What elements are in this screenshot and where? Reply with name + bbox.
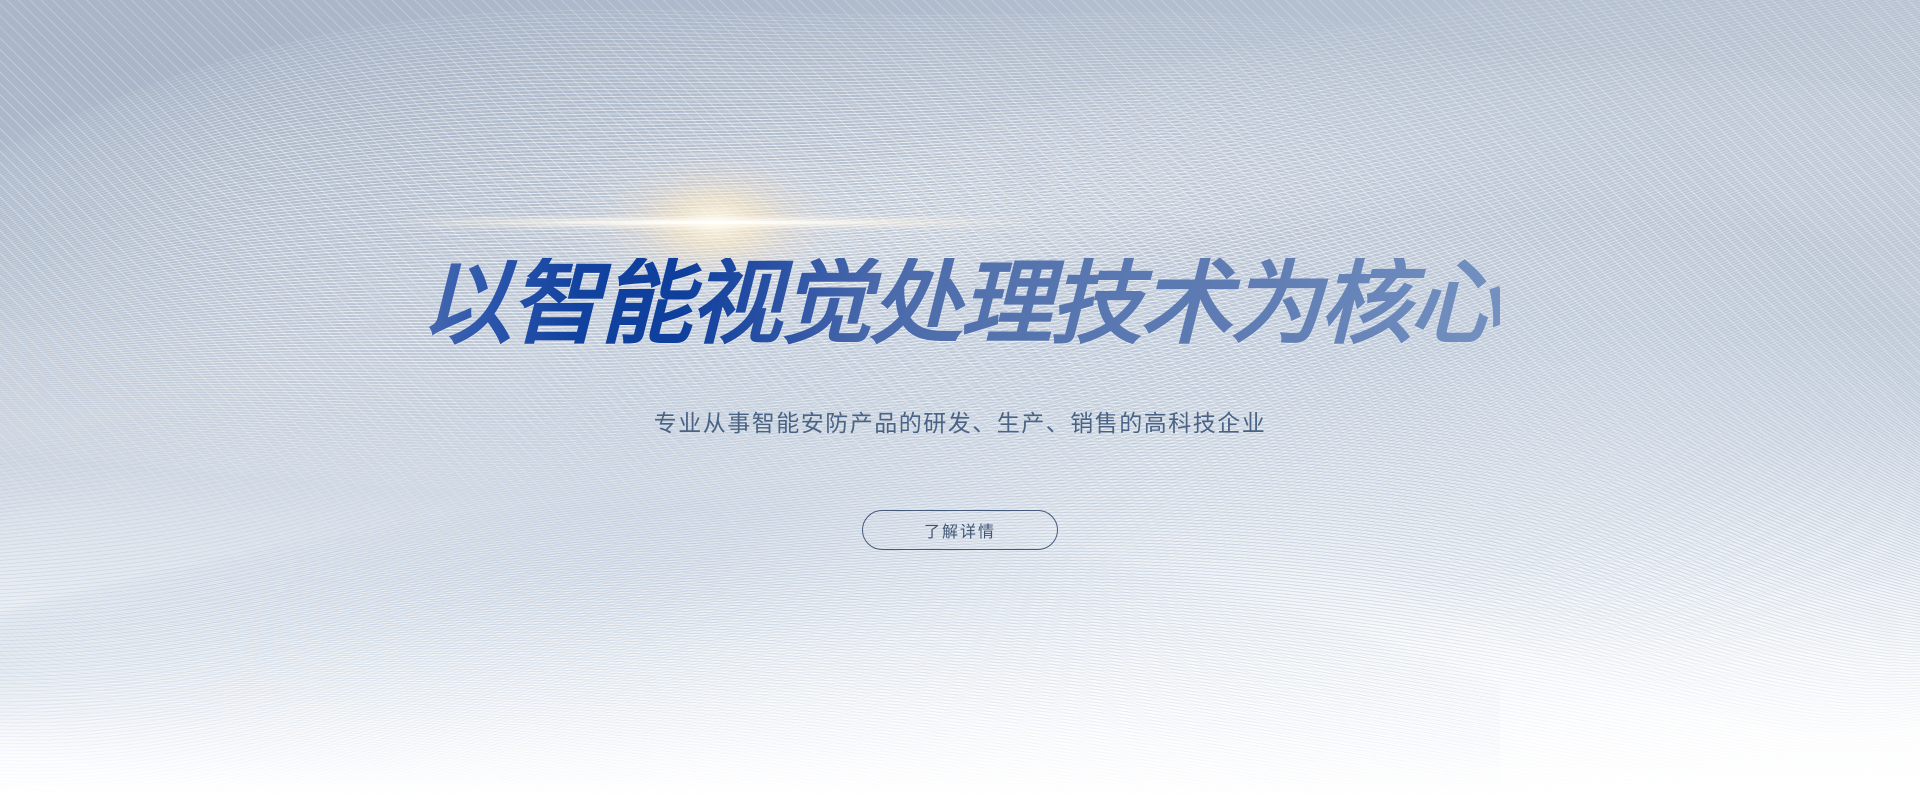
hero-banner: 以智能视觉处理技术为核心 专业从事智能安防产品的研发、生产、销售的高科技企业 了… (0, 0, 1920, 800)
learn-more-button[interactable]: 了解详情 (862, 510, 1058, 550)
hero-subtitle: 专业从事智能安防产品的研发、生产、销售的高科技企业 (654, 404, 1267, 438)
learn-more-button-label: 了解详情 (924, 518, 996, 542)
hero-content: 以智能视觉处理技术为核心 专业从事智能安防产品的研发、生产、销售的高科技企业 了… (0, 0, 1920, 800)
page-title: 以智能视觉处理技术为核心 (420, 258, 1500, 350)
